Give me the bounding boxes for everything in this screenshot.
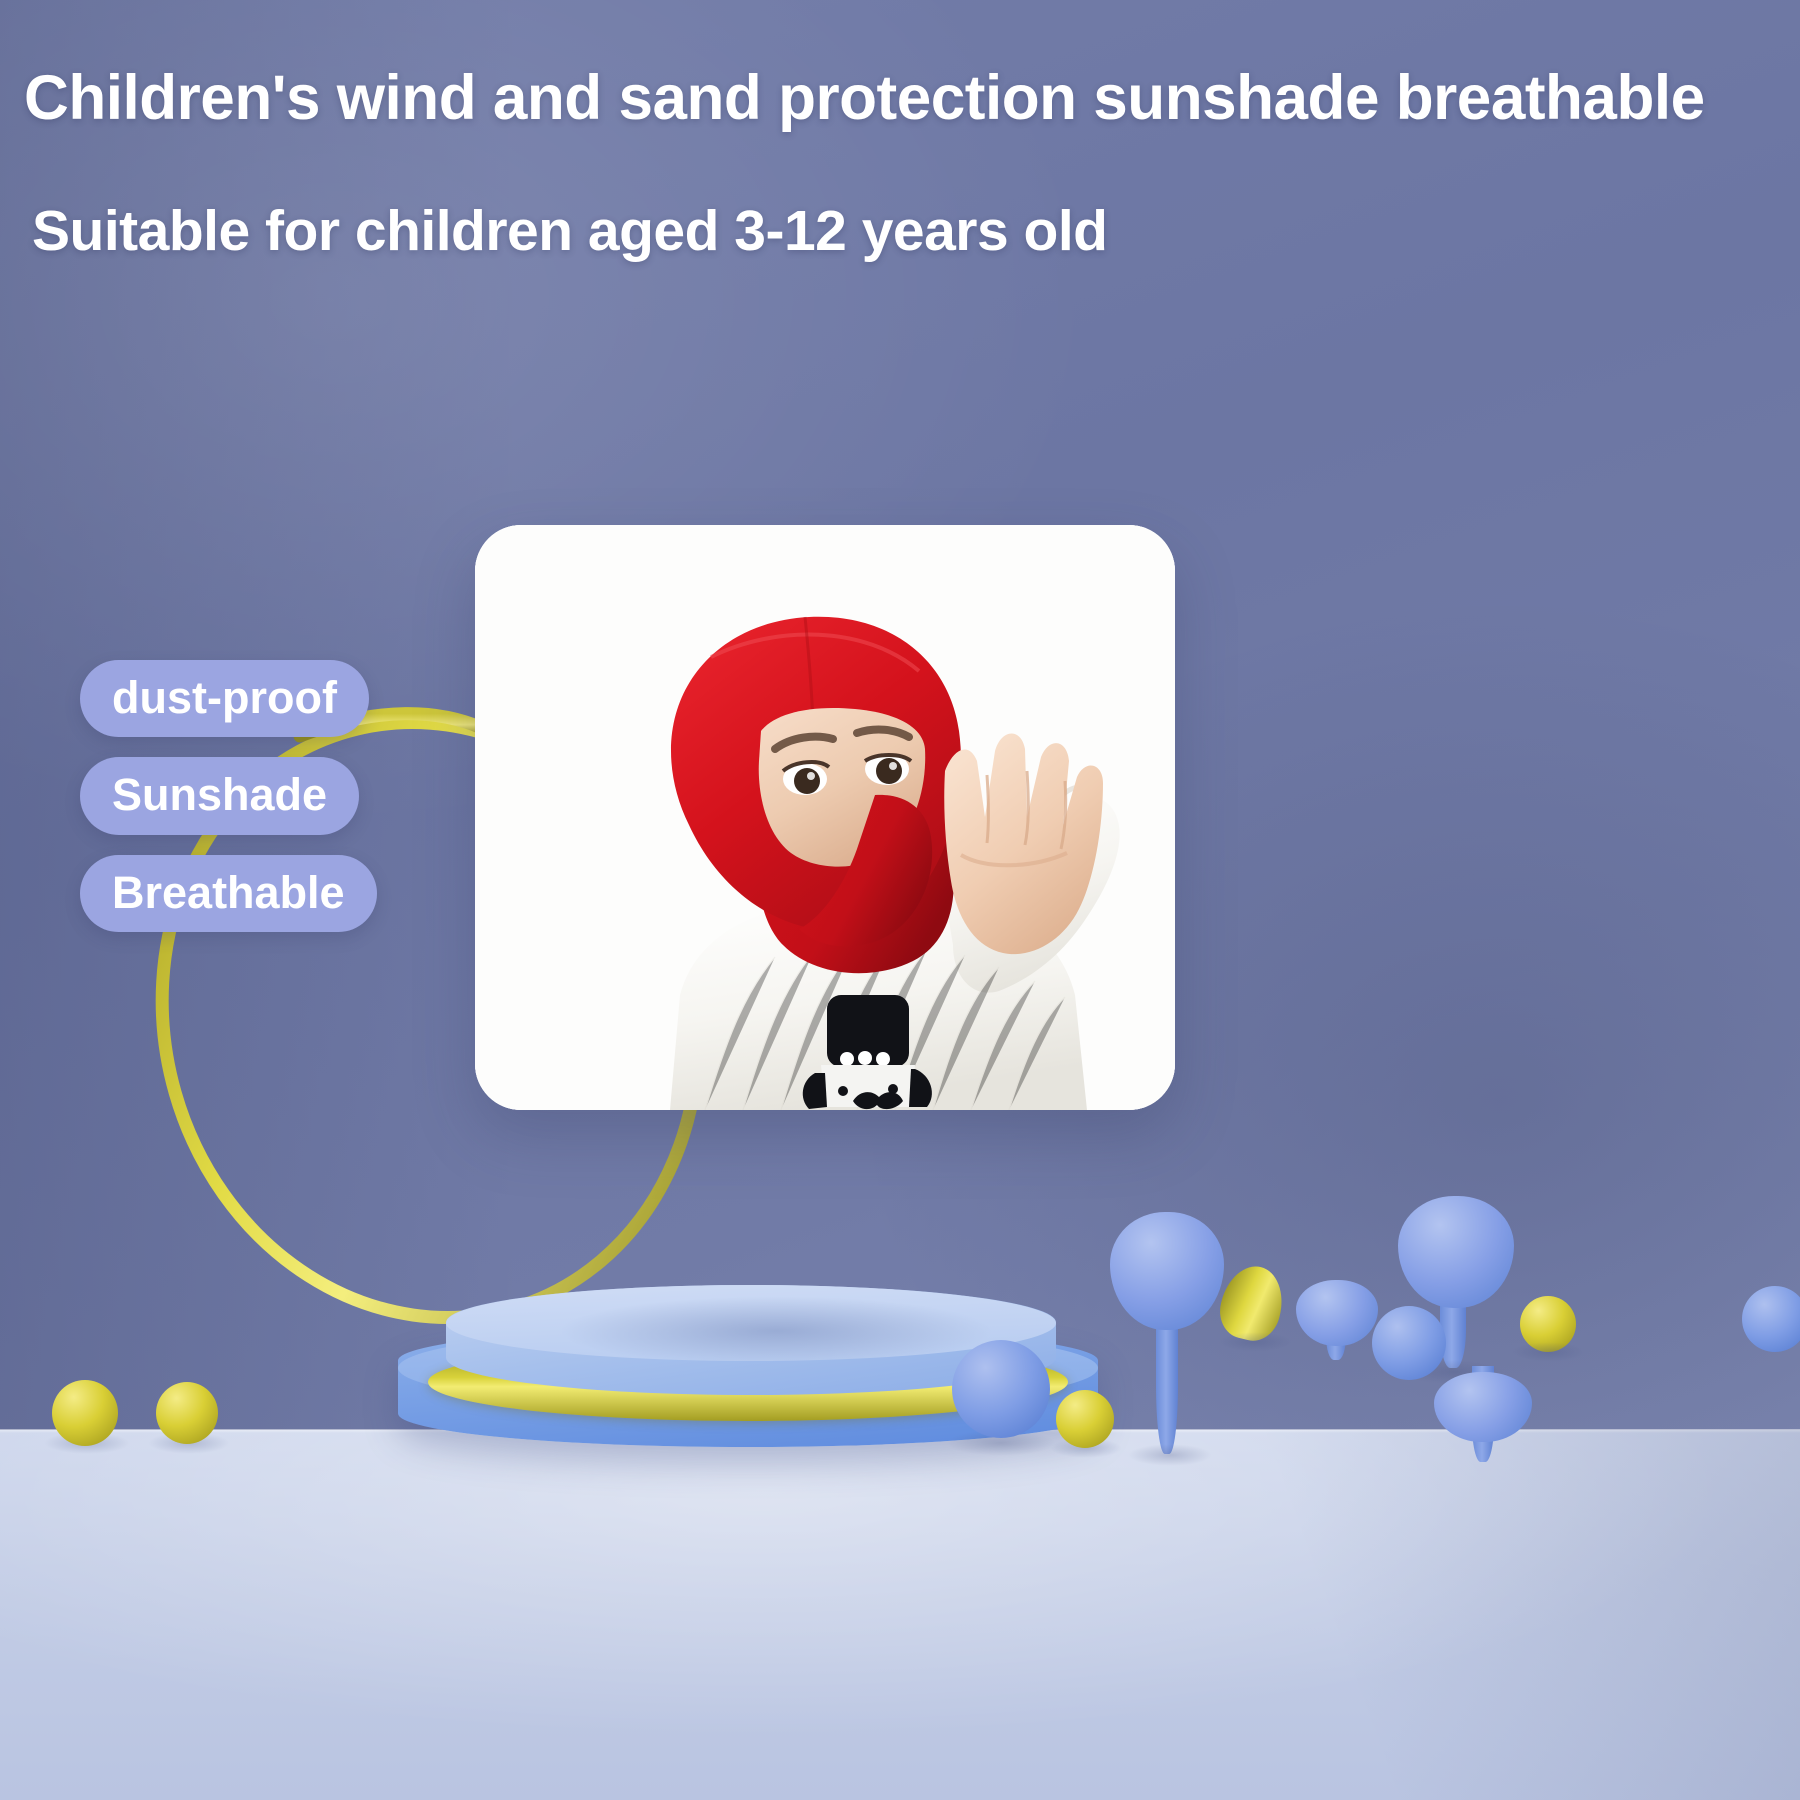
gold-sphere [52,1380,118,1446]
gold-sphere [156,1382,218,1444]
podium-top-surface [446,1285,1056,1361]
page-subtitle: Suitable for children aged 3-12 years ol… [32,198,1108,264]
blue-sphere [952,1340,1050,1438]
feature-pill-dust-proof: dust-proof [80,660,369,737]
product-photo-card [475,525,1175,1110]
prop-shadow [1218,1332,1292,1352]
product-banner-scene: Children's wind and sand protection suns… [0,0,1800,1800]
floor-shadow [1100,1430,1800,1800]
feature-pill-list: dust-proof Sunshade Breathable [80,660,377,932]
blue-sphere [1372,1306,1446,1380]
prop-shadow [1128,1444,1212,1466]
blue-sphere [1742,1286,1800,1352]
page-title: Children's wind and sand protection suns… [24,62,1705,134]
feature-pill-breathable: Breathable [80,855,377,932]
feature-pill-sunshade: Sunshade [80,757,359,834]
prop-shadow [1512,1342,1586,1362]
child-wearing-red-balaclava-photo [475,525,1175,1110]
gold-sphere [1056,1390,1114,1448]
